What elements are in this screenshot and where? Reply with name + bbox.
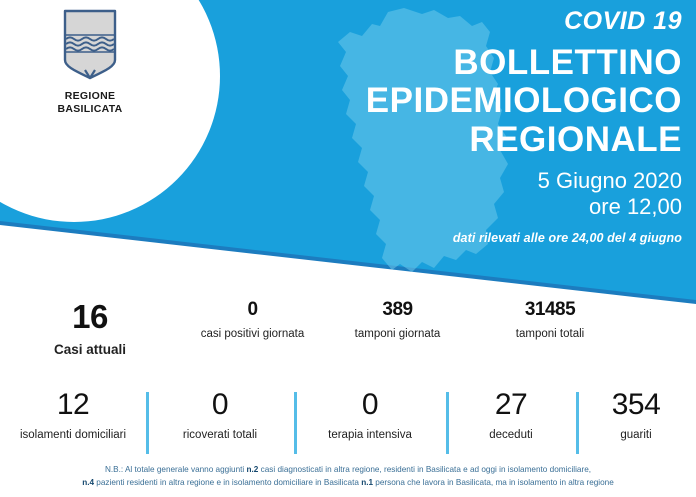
title-line-3: REGIONALE xyxy=(162,121,682,160)
covid-bulletin-poster: REGIONE BASILICATA COVID 19 BOLLETTINO E… xyxy=(0,0,696,497)
stat-value: 31485 xyxy=(470,300,630,319)
stat-value: 0 xyxy=(146,390,294,420)
primary-stats-row: 16 Casi attuali 0 casi positivi giornata… xyxy=(0,300,696,380)
header-text-block: COVID 19 BOLLETTINO EPIDEMIOLOGICO REGIO… xyxy=(162,8,682,245)
footnote-line-2: n.4 pazienti residenti in altra regione … xyxy=(0,477,696,490)
stat-label: deceduti xyxy=(446,429,576,441)
footnote-l2-b: pazienti residenti in altra regione e in… xyxy=(94,478,361,487)
regione-basilicata-crest-icon xyxy=(61,8,119,84)
stat-terapia-intensiva: 0 terapia intensiva xyxy=(294,390,446,458)
logo-text-line1: REGIONE xyxy=(0,90,180,103)
stat-value: 0 xyxy=(180,300,325,319)
stat-label: Casi attuali xyxy=(0,342,180,357)
stat-label: casi positivi giornata xyxy=(180,328,325,340)
footnote-l1-a: N.B.: Al totale generale vanno aggiunti xyxy=(105,465,247,474)
stat-ricoverati-totali: 0 ricoverati totali xyxy=(146,390,294,458)
footnote-l1-b: n.2 xyxy=(247,465,259,474)
stat-label: ricoverati totali xyxy=(146,429,294,441)
stat-label: guariti xyxy=(576,429,696,441)
stat-value: 27 xyxy=(446,390,576,420)
bulletin-date: 5 Giugno 2020 xyxy=(162,168,682,194)
stat-value: 16 xyxy=(0,300,180,333)
stat-deceduti: 27 deceduti xyxy=(446,390,576,458)
bulletin-time: ore 12,00 xyxy=(162,194,682,220)
footnote-line-1: N.B.: Al totale generale vanno aggiunti … xyxy=(0,464,696,477)
stat-tamponi-giornata: 389 tamponi giornata xyxy=(325,300,470,380)
stat-value: 12 xyxy=(0,390,146,420)
stat-casi-positivi-giornata: 0 casi positivi giornata xyxy=(180,300,325,380)
regione-basilicata-logo: REGIONE BASILICATA xyxy=(0,8,180,116)
stat-value: 389 xyxy=(325,300,470,319)
footnote-block: N.B.: Al totale generale vanno aggiunti … xyxy=(0,464,696,489)
stat-isolamenti-domiciliari: 12 isolamenti domiciliari xyxy=(0,390,146,458)
stat-casi-attuali: 16 Casi attuali xyxy=(0,300,180,380)
logo-text-line2: BASILICATA xyxy=(0,103,180,116)
footnote-l2-d: persona che lavora in Basilicata, ma in … xyxy=(373,478,614,487)
footnote-l2-a: n.4 xyxy=(82,478,94,487)
survey-note: dati rilevati alle ore 24,00 del 4 giugn… xyxy=(162,231,682,245)
stat-label: tamponi totali xyxy=(470,328,630,340)
title-line-1: BOLLETTINO xyxy=(162,44,682,83)
stat-label: isolamenti domiciliari xyxy=(0,429,146,441)
logo-text: REGIONE BASILICATA xyxy=(0,90,180,116)
stat-value: 0 xyxy=(294,390,446,420)
covid-19-eyebrow: COVID 19 xyxy=(162,8,682,36)
footnote-l2-c: n.1 xyxy=(361,478,373,487)
stat-tamponi-totali: 31485 tamponi totali xyxy=(470,300,630,380)
stat-label: tamponi giornata xyxy=(325,328,470,340)
stat-value: 354 xyxy=(576,390,696,420)
title-line-2: EPIDEMIOLOGICO xyxy=(162,82,682,121)
stat-label: terapia intensiva xyxy=(294,429,446,441)
secondary-stats-row: 12 isolamenti domiciliari 0 ricoverati t… xyxy=(0,390,696,458)
stat-guariti: 354 guariti xyxy=(576,390,696,458)
footnote-l1-c: casi diagnosticati in altra regione, res… xyxy=(258,465,591,474)
